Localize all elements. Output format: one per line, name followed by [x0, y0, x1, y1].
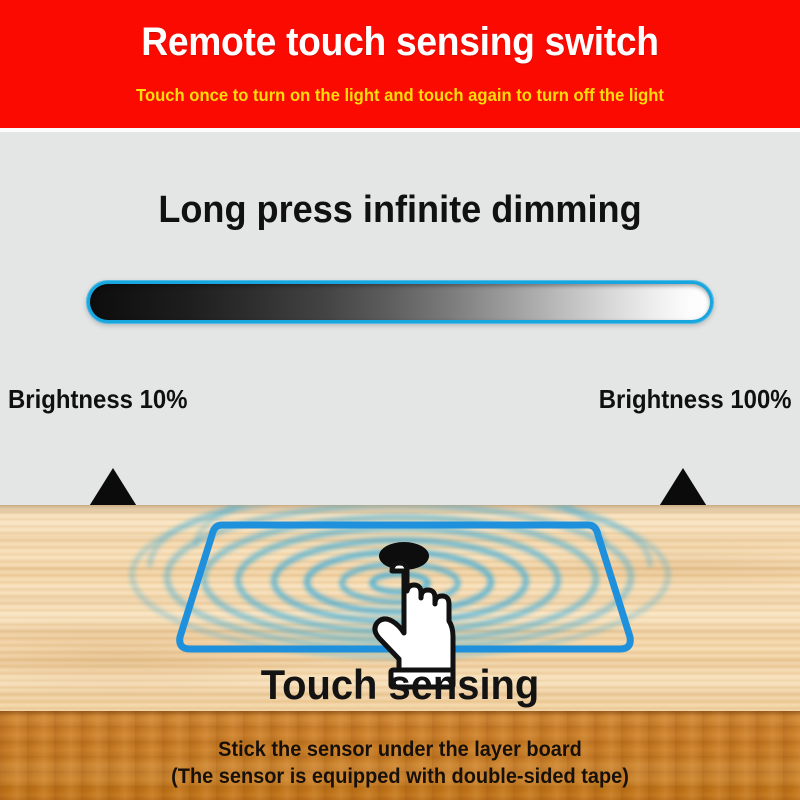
infographic-page: Remote touch sensing switch Touch once t… — [0, 0, 800, 800]
brightness-gradient-fill — [90, 284, 710, 320]
wood-edge-shadow — [0, 711, 800, 716]
caption-line-1: Stick the sensor under the layer board — [20, 737, 780, 763]
touch-sensing-label: Touch sensing — [20, 660, 780, 710]
dimming-heading: Long press infinite dimming — [20, 188, 780, 232]
caption-line-2: (The sensor is equipped with double-side… — [20, 764, 780, 790]
header-subtitle: Touch once to turn on the light and touc… — [20, 84, 780, 106]
brightness-max-label: Brightness 100% — [599, 384, 792, 414]
up-triangle-marker-icon-max — [658, 468, 708, 507]
header-banner: Remote touch sensing switch Touch once t… — [0, 0, 800, 128]
brightness-gradient-bar[interactable] — [86, 280, 714, 324]
dimming-section: Long press infinite dimming Brightness 1… — [0, 132, 800, 507]
brightness-min-label: Brightness 10% — [8, 384, 187, 414]
up-triangle-marker-icon-min — [88, 468, 138, 507]
touch-sensing-section: Touch sensing Stick the sensor under the… — [0, 505, 800, 800]
page-title: Remote touch sensing switch — [28, 18, 772, 66]
